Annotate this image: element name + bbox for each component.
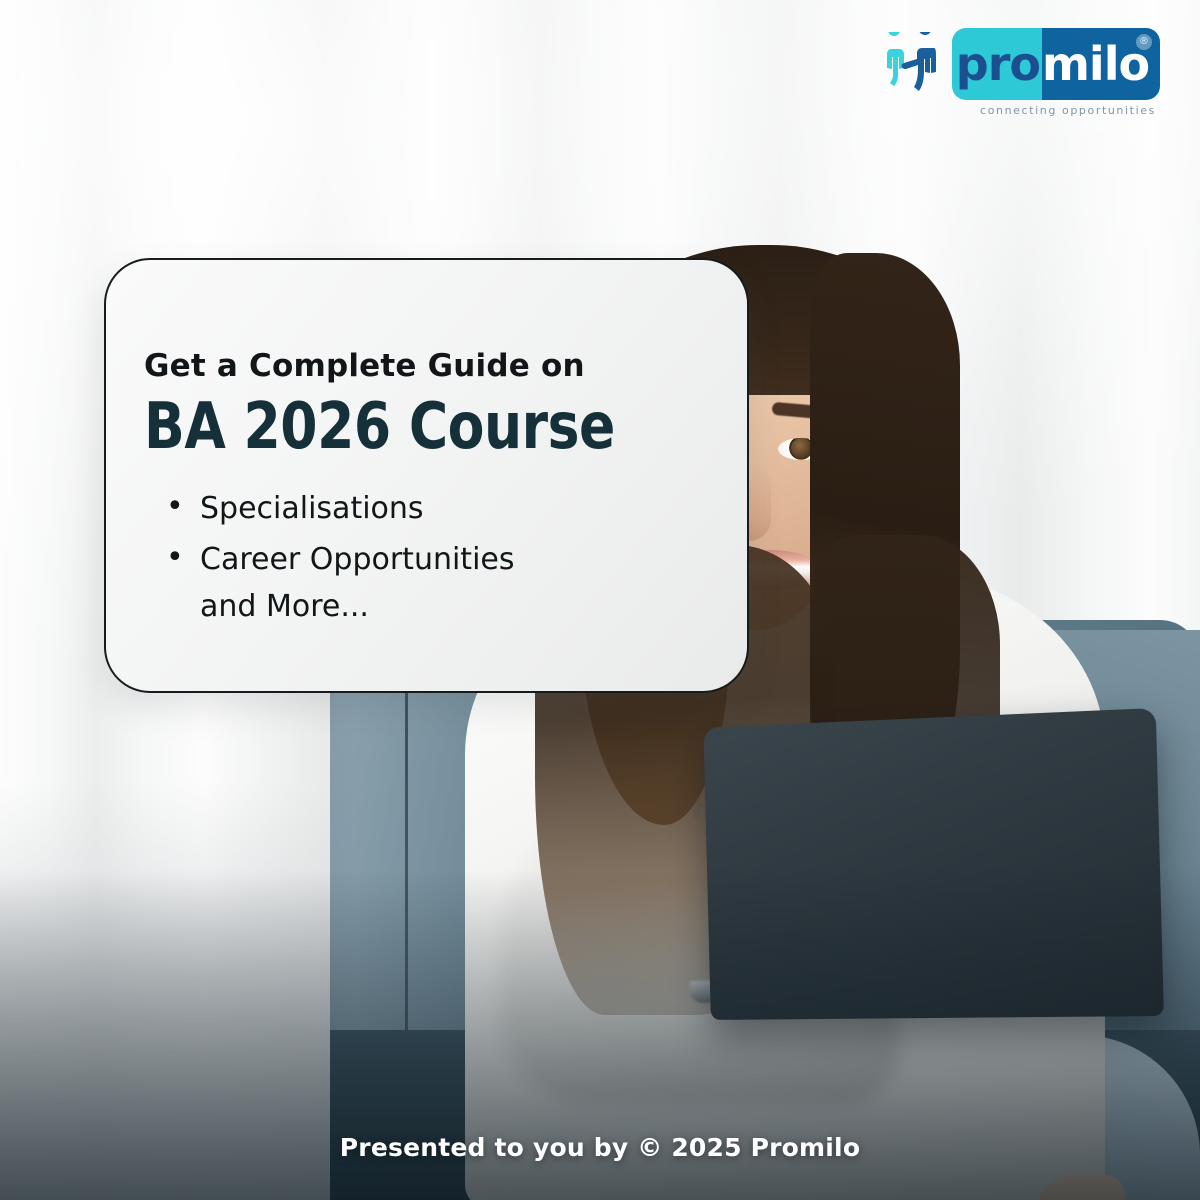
two-people-handshake-icon — [880, 32, 942, 100]
card-content: Get a Complete Guide on BA 2026 Course S… — [144, 348, 717, 638]
iris-right — [791, 438, 812, 459]
logo-wordmark: pro milo ® — [952, 28, 1160, 100]
content-card: Get a Complete Guide on BA 2026 Course S… — [104, 258, 749, 693]
list-item-continuation: and More... — [144, 587, 717, 626]
card-kicker: Get a Complete Guide on — [144, 348, 717, 384]
logo-pro-block: pro — [952, 28, 1042, 100]
registered-trademark-icon: ® — [1136, 34, 1152, 50]
logo-milo-text: milo — [1042, 41, 1149, 87]
logo-pro-text: pro — [956, 41, 1040, 87]
footer-credit: Presented to you by © 2025 Promilo — [0, 1133, 1200, 1162]
logo-tagline: connecting opportunities — [976, 104, 1160, 117]
feature-list: Specialisations Career Opportunities and… — [144, 489, 717, 626]
card-headline: BA 2026 Course — [144, 394, 677, 461]
promilo-logo[interactable]: pro milo ® connecting opportunities — [880, 28, 1170, 133]
laptop-lid — [703, 708, 1163, 1020]
promo-poster: pro milo ® connecting opportunities Get … — [0, 0, 1200, 1200]
list-item: Career Opportunities — [144, 540, 717, 579]
list-item: Specialisations — [144, 489, 717, 528]
